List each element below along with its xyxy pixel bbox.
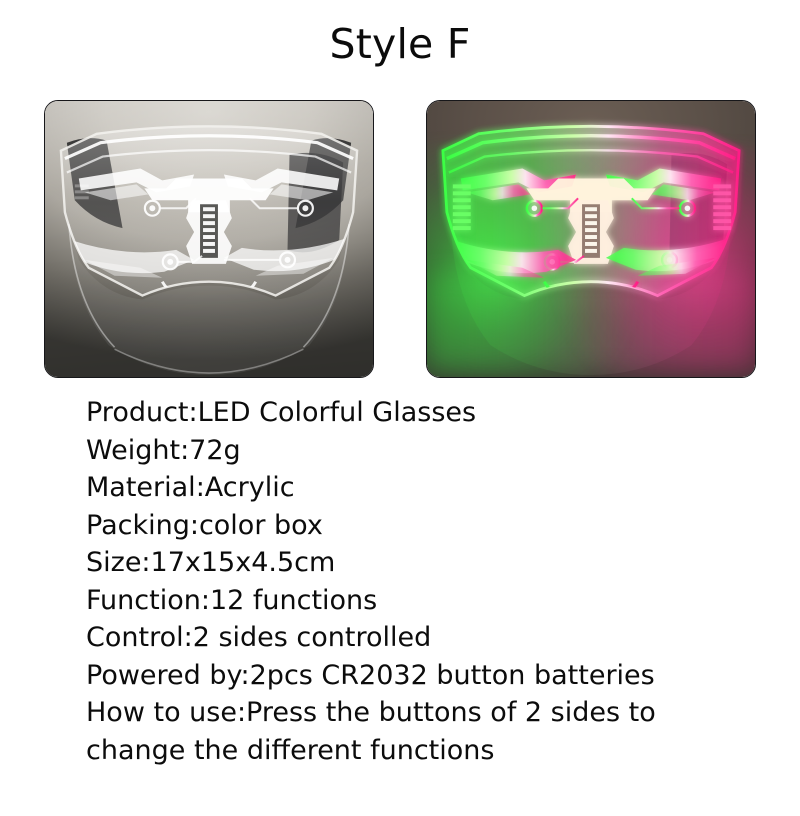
spec-how-to-use: How to use:Press the buttons of 2 sides … xyxy=(86,694,726,769)
spec-product: Product:LED Colorful Glasses xyxy=(86,394,786,432)
product-specifications: Product:LED Colorful Glasses Weight:72g … xyxy=(86,394,786,769)
spec-material: Material:Acrylic xyxy=(86,469,786,507)
led-glasses-unlit-photo[interactable] xyxy=(44,100,374,378)
spec-powered-by: Powered by:2pcs CR2032 button batteries xyxy=(86,657,786,695)
led-glasses-lit-photo[interactable] xyxy=(426,100,756,378)
spec-weight: Weight:72g xyxy=(86,432,786,470)
spec-function: Function:12 functions xyxy=(86,582,786,620)
spec-packing: Packing:color box xyxy=(86,507,786,545)
spec-size: Size:17x15x4.5cm xyxy=(86,544,786,582)
spec-control: Control:2 sides controlled xyxy=(86,619,786,657)
visor-graphic-unlit xyxy=(45,101,373,377)
page-title: Style F xyxy=(0,16,800,72)
product-image-gallery xyxy=(0,100,800,378)
visor-graphic-lit xyxy=(427,101,755,377)
